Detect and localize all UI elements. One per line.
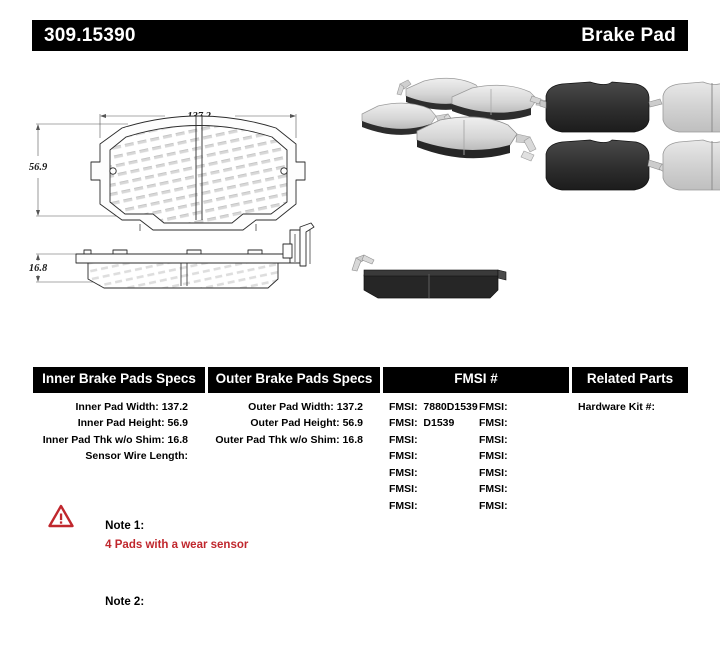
note-lines: Note 1: 4 Pads with a wear sensor Note 2… [86, 498, 248, 650]
side-view-pad [76, 223, 314, 288]
column-header-related-parts: Related Parts [572, 367, 688, 393]
height-dimension-label: 56.9 [29, 162, 48, 173]
title-bar: 309.15390 Brake Pad [32, 20, 688, 51]
photo-pad-angled-4 [417, 117, 536, 161]
fmsi-line: FMSI: 7880D1539 [389, 399, 479, 416]
photo-pad-plate-2 [663, 140, 720, 190]
photo-pad-angled-3 [452, 85, 548, 120]
notes-area: Note 1: 4 Pads with a wear sensor Note 2… [48, 498, 248, 650]
part-number: 309.15390 [44, 25, 136, 47]
fmsi-line: FMSI: [479, 465, 569, 482]
fmsi-line: FMSI: [389, 432, 479, 449]
inner-spec-line: Inner Pad Height: 56.9 [33, 415, 188, 432]
photo-pad-dark-2 [546, 140, 672, 190]
related-parts-cell: Hardware Kit #: [572, 399, 688, 515]
outer-spec-line: Outer Pad Height: 56.9 [208, 415, 363, 432]
outer-spec-line: Outer Pad Width: 137.2 [208, 399, 363, 416]
specs-table: Inner Brake Pads Specs Outer Brake Pads … [33, 367, 688, 514]
technical-drawing: 137.2 56.9 16.8 [0, 58, 355, 338]
fmsi-cell: FMSI: 7880D1539 FMSI: D1539 FMSI: FMSI: … [383, 399, 569, 515]
column-header-inner-specs: Inner Brake Pads Specs [33, 367, 205, 393]
note-2-label: Note 2: [105, 596, 144, 608]
photo-pad-plate-1 [663, 82, 720, 132]
photo-flatlay-pads [530, 82, 720, 190]
fmsi-line: FMSI: [479, 498, 569, 515]
inner-spec-line: Inner Pad Width: 137.2 [33, 399, 188, 416]
inner-spec-line: Inner Pad Thk w/o Shim: 16.8 [33, 432, 188, 449]
fmsi-line: FMSI: [479, 448, 569, 465]
fmsi-line: FMSI: [389, 448, 479, 465]
column-header-fmsi: FMSI # [383, 367, 569, 393]
warning-triangle-icon [48, 504, 74, 528]
column-header-outer-specs: Outer Brake Pads Specs [208, 367, 380, 393]
thickness-dimension-label: 16.8 [29, 263, 48, 274]
fmsi-line: FMSI: [389, 498, 479, 515]
note-1-label: Note 1: [105, 520, 144, 532]
outer-spec-line: Outer Pad Thk w/o Shim: 16.8 [208, 432, 363, 449]
table-body-row: Inner Pad Width: 137.2 Inner Pad Height:… [33, 393, 688, 515]
front-view-pad [91, 115, 305, 231]
fmsi-line: FMSI: [479, 432, 569, 449]
table-header-row: Inner Brake Pads Specs Outer Brake Pads … [33, 367, 688, 393]
fmsi-line: FMSI: [479, 399, 569, 416]
fmsi-line: FMSI: [389, 465, 479, 482]
product-photos [350, 58, 720, 338]
photo-pad-dark-1 [530, 82, 662, 132]
fmsi-line: FMSI: D1539 [389, 415, 479, 432]
photo-pad-side-profile [352, 255, 506, 298]
photo-angled-pads [362, 78, 548, 161]
product-title: Brake Pad [581, 25, 676, 47]
note-1-value: 4 Pads with a wear sensor [105, 539, 248, 551]
inner-spec-line: Sensor Wire Length: [33, 448, 188, 465]
fmsi-line: FMSI: [389, 481, 479, 498]
note-2-row: Note 2: [86, 574, 248, 650]
fmsi-line: FMSI: [479, 415, 569, 432]
fmsi-line: FMSI: [479, 481, 569, 498]
fmsi-column-left: FMSI: 7880D1539 FMSI: D1539 FMSI: FMSI: … [389, 399, 479, 515]
fmsi-column-right: FMSI: FMSI: FMSI: FMSI: FMSI: FMSI: FMSI… [479, 399, 569, 515]
related-part-line: Hardware Kit #: [578, 399, 688, 416]
note-1-row: Note 1: 4 Pads with a wear sensor [86, 498, 248, 574]
